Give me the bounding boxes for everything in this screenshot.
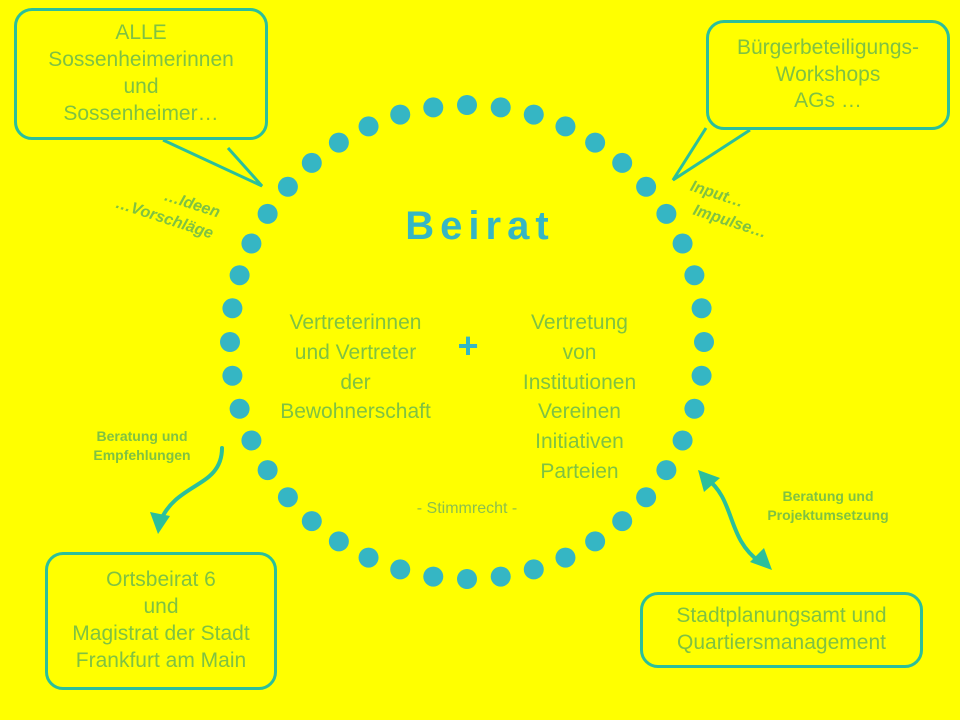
ring-dot xyxy=(278,177,298,197)
ring-dot xyxy=(636,487,656,507)
ring-dot xyxy=(457,569,477,589)
bubble-tail-workshops xyxy=(673,128,750,180)
ring-dot xyxy=(390,105,410,125)
ring-dot xyxy=(555,548,575,568)
ring-dot xyxy=(302,511,322,531)
center-right-line-4: Vereinen xyxy=(492,397,667,427)
center-right-line-1: Vertretung xyxy=(492,308,667,338)
ring-dot xyxy=(684,265,704,285)
ring-dot xyxy=(258,460,278,480)
ring-dot xyxy=(329,133,349,153)
ring-dot xyxy=(684,399,704,419)
speech-bubble-workshops[interactable]: Bürgerbeteiligungs- Workshops AGs … xyxy=(706,20,950,130)
bubble-alle-line-4: Sossenheimer… xyxy=(63,101,218,128)
label-beratung-projektumsetzung: Beratung und Projektumsetzung xyxy=(748,487,908,525)
bubble-workshops-line-1: Bürgerbeteiligungs- xyxy=(737,35,919,62)
label-beratung-empfehlungen: Beratung und Empfehlungen xyxy=(72,427,212,465)
center-left-line-1: Vertreterinnen xyxy=(268,308,443,338)
center-right-line-5: Initiativen xyxy=(492,427,667,457)
ring-dot xyxy=(423,97,443,117)
ring-dot xyxy=(491,567,511,587)
box-ortsbeirat-line-1: Ortsbeirat 6 xyxy=(106,567,216,594)
ring-dot xyxy=(241,430,261,450)
bubble-alle-line-2: Sossenheimerinnen xyxy=(48,47,234,74)
ring-dot xyxy=(230,399,250,419)
ring-dot xyxy=(524,559,544,579)
ring-dot xyxy=(692,298,712,318)
center-right-line-2: von xyxy=(492,338,667,368)
box-ortsbeirat[interactable]: Ortsbeirat 6 und Magistrat der Stadt Fra… xyxy=(45,552,277,690)
center-left-line-3: der xyxy=(268,368,443,398)
diagram-canvas: ALLE Sossenheimerinnen und Sossenheimer…… xyxy=(0,0,960,720)
ring-dot xyxy=(222,298,242,318)
bubble-alle-line-3: und xyxy=(123,74,158,101)
ring-dot xyxy=(222,366,242,386)
ring-dot xyxy=(457,95,477,115)
ring-dot xyxy=(423,567,443,587)
box-ortsbeirat-line-3: Magistrat der Stadt xyxy=(72,621,249,648)
ring-dot xyxy=(585,133,605,153)
ring-dot xyxy=(612,511,632,531)
speech-bubble-alle[interactable]: ALLE Sossenheimerinnen und Sossenheimer… xyxy=(14,8,268,140)
ring-dot xyxy=(220,332,240,352)
center-left-column: Vertreterinnen und Vertreter der Bewohne… xyxy=(268,308,443,427)
bubble-tail-alle xyxy=(163,140,262,186)
ring-dot xyxy=(585,531,605,551)
bubble-alle-line-1: ALLE xyxy=(115,20,166,47)
center-left-line-2: und Vertreter xyxy=(268,338,443,368)
center-left-line-4: Bewohnerschaft xyxy=(268,397,443,427)
plus-icon: + xyxy=(450,328,486,364)
ring-dot xyxy=(524,105,544,125)
bubble-workshops-line-3: AGs … xyxy=(794,88,862,115)
ring-dot xyxy=(359,116,379,136)
center-right-line-3: Institutionen xyxy=(492,368,667,398)
ring-dot xyxy=(692,366,712,386)
ring-dot xyxy=(359,548,379,568)
box-ortsbeirat-line-2: und xyxy=(143,594,178,621)
ring-dot xyxy=(673,430,693,450)
box-stadtplanung-line-1: Stadtplanungsamt und xyxy=(676,603,886,630)
ring-dot xyxy=(230,265,250,285)
ring-dot xyxy=(555,116,575,136)
center-right-column: Vertretung von Institutionen Vereinen In… xyxy=(492,308,667,487)
ring-dot xyxy=(390,559,410,579)
ring-dot xyxy=(636,177,656,197)
box-stadtplanung-line-2: Quartiersmanagement xyxy=(677,630,886,657)
ring-dot xyxy=(302,153,322,173)
center-right-line-6: Parteien xyxy=(492,457,667,487)
ring-dot xyxy=(278,487,298,507)
box-ortsbeirat-line-4: Frankfurt am Main xyxy=(76,648,246,675)
ring-dot xyxy=(491,97,511,117)
ring-dot xyxy=(329,531,349,551)
bubble-workshops-line-2: Workshops xyxy=(776,62,881,89)
ring-dot xyxy=(612,153,632,173)
ring-dot xyxy=(694,332,714,352)
stimmrecht-note: - Stimmrecht - xyxy=(367,500,567,518)
box-stadtplanung[interactable]: Stadtplanungsamt und Quartiersmanagement xyxy=(640,592,923,668)
